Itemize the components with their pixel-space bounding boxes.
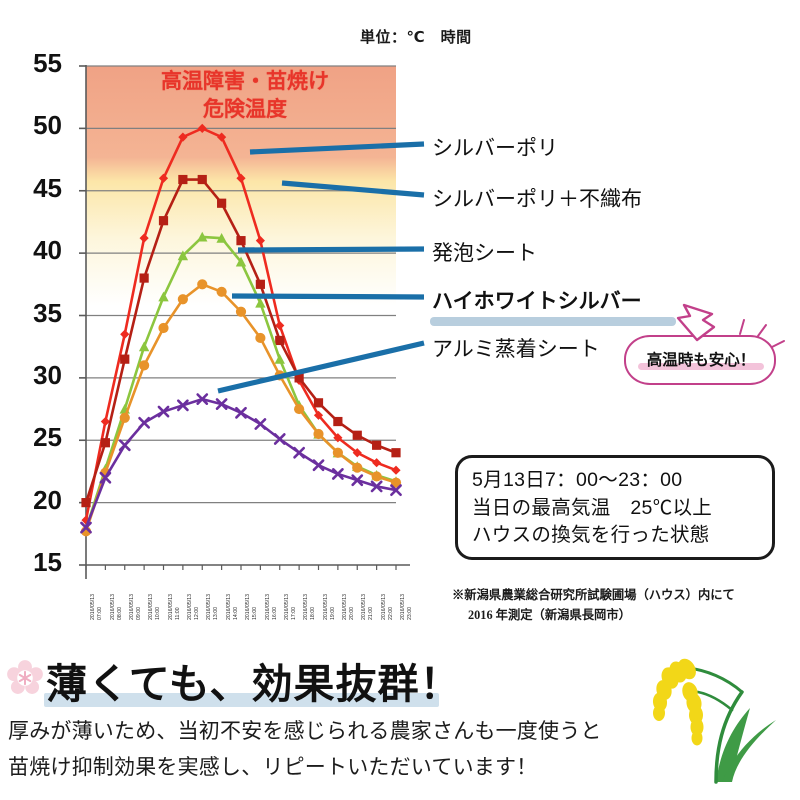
x-tick-0700: 2016/05/1307:00 xyxy=(90,594,103,620)
temperature-chart-card: 単位：℃ 時間 555045403530252015 2016/05/1307:… xyxy=(0,0,800,645)
source-note-line-2: 2016 年測定（新潟県長岡市） xyxy=(468,605,631,623)
danger-caption: 高温障害・苗焼け 危険温度 xyxy=(110,68,380,125)
y-tick-45: 45 xyxy=(14,173,62,204)
danger-caption-line1: 高温障害・苗焼け xyxy=(110,68,380,96)
infobox-line-3: ハウスの換気を行った状態 xyxy=(472,522,758,550)
x-tick-1800: 2016/05/1318:00 xyxy=(303,594,316,620)
x-tick-1300: 2016/05/1313:00 xyxy=(206,594,219,620)
callout-bubble-text: 高温時も安心！ xyxy=(628,348,774,370)
promo-body-line-1: 厚みが薄いため、当初不安を感じられる農家さんも一度使うと xyxy=(8,715,602,745)
x-tick-0800: 2016/05/1308:00 xyxy=(110,594,123,620)
y-tick-30: 30 xyxy=(14,360,62,391)
y-tick-20: 20 xyxy=(14,485,62,516)
x-tick-1100: 2016/05/1311:00 xyxy=(168,594,181,620)
x-tick-2300: 2016/05/1323:00 xyxy=(400,594,413,620)
y-tick-55: 55 xyxy=(14,48,62,79)
measurement-conditions-box: 5月13日7：00〜23：00 当日の最高気温 25℃以上 ハウスの換気を行った… xyxy=(455,455,775,560)
promo-headline: 薄くても、効果抜群！ xyxy=(46,650,462,710)
danger-caption-line2: 危険温度 xyxy=(110,96,380,124)
source-note-line-1: ※新潟県農業総合研究所試験圃場（ハウス）内にて xyxy=(452,585,735,603)
legend-item-2: シルバーポリ＋不織布 xyxy=(432,183,642,213)
x-tick-2100: 2016/05/1321:00 xyxy=(361,594,374,620)
x-tick-1200: 2016/05/1312:00 xyxy=(187,594,200,620)
x-tick-1500: 2016/05/1315:00 xyxy=(245,594,258,620)
x-tick-1600: 2016/05/1316:00 xyxy=(265,594,278,620)
x-tick-1000: 2016/05/1310:00 xyxy=(148,594,161,620)
y-tick-35: 35 xyxy=(14,298,62,329)
legend-item-1: シルバーポリ xyxy=(432,132,558,162)
promo-body-line-2: 苗焼け抑制効果を実感し、リピートいただいています！ xyxy=(8,751,537,781)
infobox-line-2: 当日の最高気温 25℃以上 xyxy=(472,495,758,523)
legend-item-3: 発泡シート xyxy=(432,237,537,267)
x-tick-2200: 2016/05/1322:00 xyxy=(381,594,394,620)
x-tick-1700: 2016/05/1317:00 xyxy=(284,594,297,620)
rice-plant-icon xyxy=(646,650,794,790)
infobox-line-1: 5月13日7：00〜23：00 xyxy=(472,467,758,495)
y-tick-25: 25 xyxy=(14,422,62,453)
legend-item-5: アルミ蒸着シート xyxy=(432,333,600,363)
y-tick-15: 15 xyxy=(14,547,62,578)
flower-icon xyxy=(6,659,44,697)
y-tick-50: 50 xyxy=(14,110,62,141)
x-tick-2000: 2016/05/1320:00 xyxy=(342,594,355,620)
x-tick-1900: 2016/05/1319:00 xyxy=(323,594,336,620)
y-tick-40: 40 xyxy=(14,235,62,266)
x-tick-0900: 2016/05/1309:00 xyxy=(129,594,142,620)
x-tick-1400: 2016/05/1314:00 xyxy=(226,594,239,620)
